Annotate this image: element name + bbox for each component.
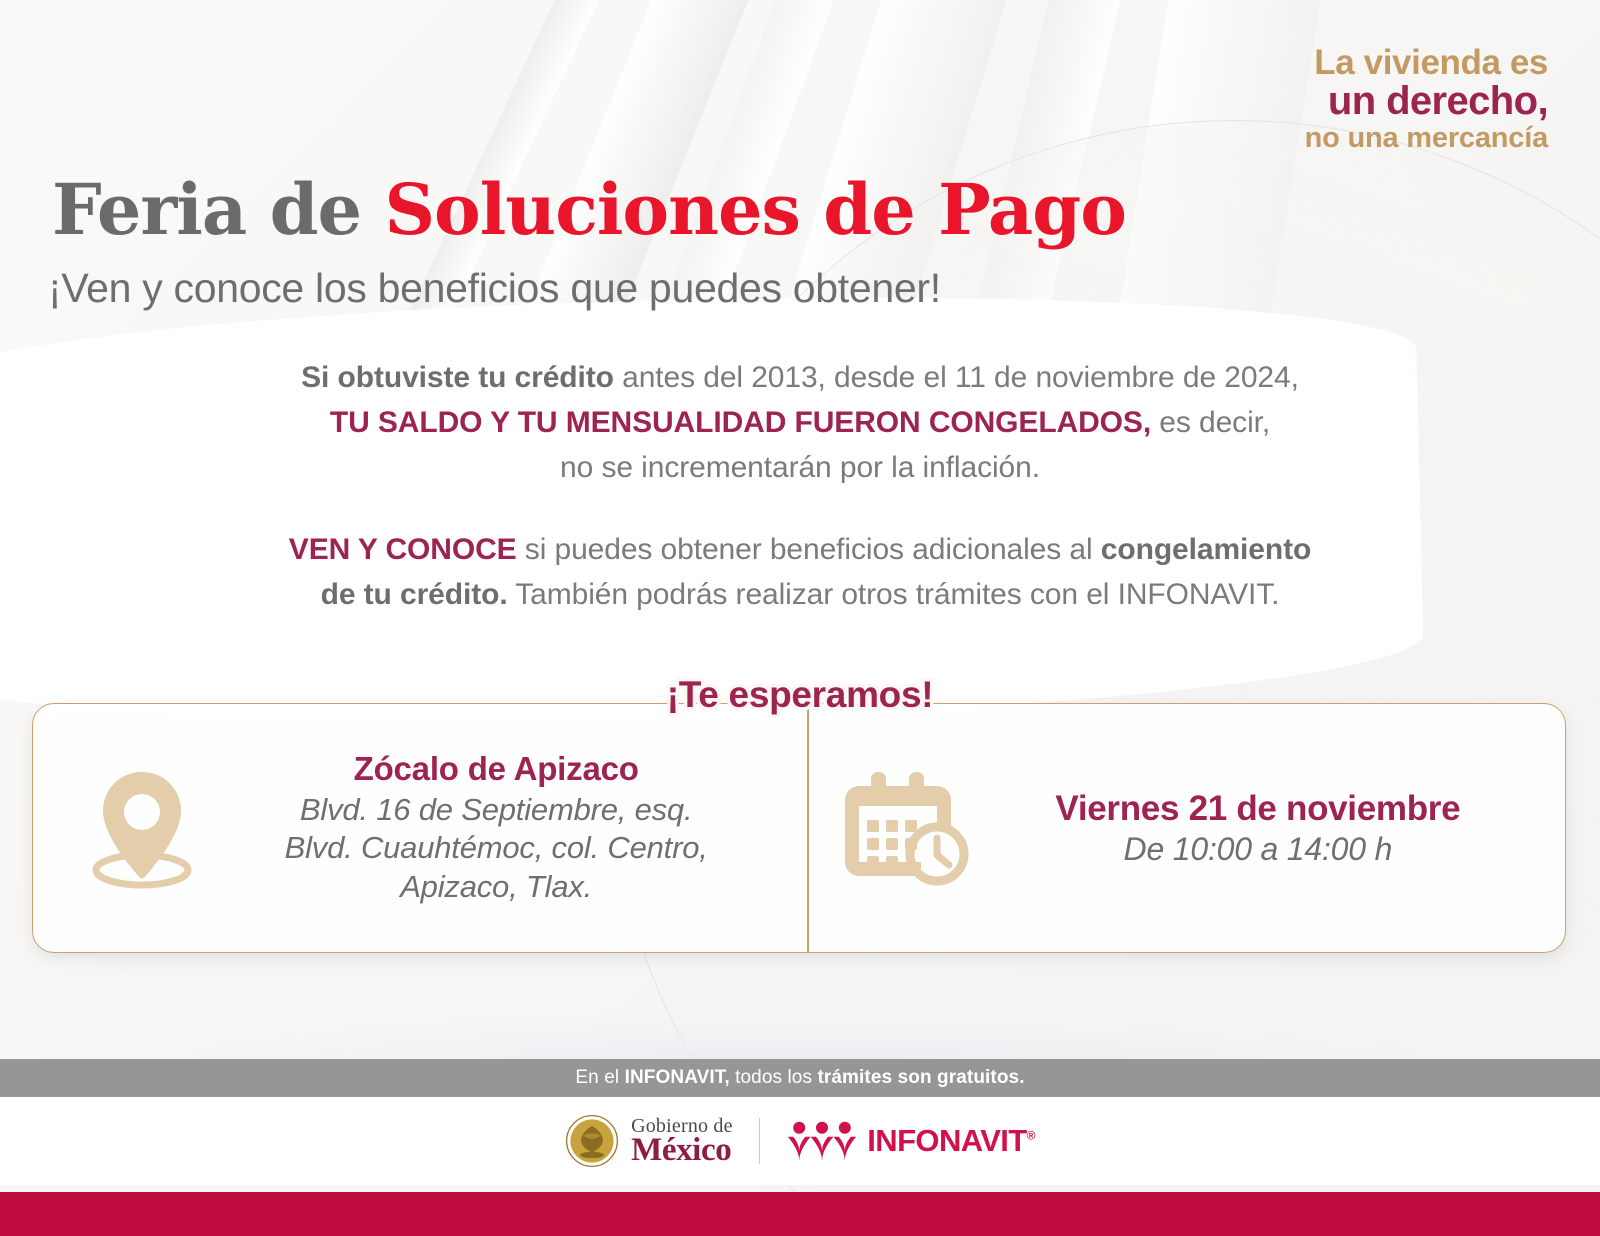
title-part-red: Soluciones de Pago (384, 168, 1125, 251)
venue-cell: Zócalo de Apizaco Blvd. 16 de Septiembre… (33, 704, 807, 952)
infonavit-people-icon (786, 1121, 858, 1161)
infonavit-wordmark: INFONAVIT® (867, 1123, 1035, 1159)
venue-address-line-2: Blvd. Cuauhtémoc, col. Centro, (231, 829, 761, 867)
paragraph1-text-b: es decir, (1151, 406, 1270, 439)
free-procedures-bar: En el INFONAVIT, todos los trámites son … (0, 1059, 1600, 1097)
bar-bold-b: trámites son gratuitos. (817, 1067, 1024, 1088)
infonavit-word-text: INFONAVIT (867, 1123, 1026, 1158)
registered-mark: ® (1027, 1129, 1035, 1143)
gobierno-line-2: México (631, 1134, 733, 1167)
free-procedures-text: En el INFONAVIT, todos los trámites son … (575, 1067, 1024, 1089)
tagline-line-1: La vivienda es (1305, 44, 1548, 81)
bottom-accent-strip (0, 1192, 1600, 1236)
tagline-block: La vivienda es un derecho, no una mercan… (1305, 44, 1548, 154)
logo-separator (759, 1118, 761, 1164)
bar-text-a: En el (575, 1067, 624, 1088)
background-white-band (0, 282, 1425, 739)
infonavit-logo: INFONAVIT® (786, 1121, 1035, 1161)
logo-row: Gobierno de México INFONAVIT® (0, 1097, 1600, 1185)
mexican-eagle-seal-icon (565, 1114, 619, 1168)
paragraph2-line2: de tu crédito. También podrás realizar o… (0, 572, 1600, 617)
event-details-box: Zócalo de Apizaco Blvd. 16 de Septiembre… (32, 703, 1566, 953)
venue-name: Zócalo de Apizaco (231, 750, 761, 788)
paragraph2-text-b: También podrás realizar otros trámites c… (508, 578, 1280, 611)
paragraph2-magenta: VEN Y CONOCE (289, 533, 517, 566)
page-subtitle: ¡Ven y conoce los beneficios que puedes … (48, 265, 941, 312)
paragraph1-bold-lead: Si obtuviste tu crédito (301, 361, 614, 394)
tagline-line-2: un derecho, (1305, 80, 1548, 122)
page-title: Feria de Soluciones de Pago (52, 168, 1126, 251)
paragraph2-text-a: si puedes obtener beneficios adicionales… (517, 533, 1101, 566)
paragraph2-bold-a: congelamiento (1101, 533, 1311, 566)
event-date: Viernes 21 de noviembre (1017, 789, 1499, 829)
gobierno-words: Gobierno de México (631, 1116, 733, 1167)
paragraph1-text-a: antes del 2013, desde el 11 de noviembre… (614, 361, 1299, 394)
paragraph-benefits-info: VEN Y CONOCE si puedes obtener beneficio… (0, 527, 1600, 617)
paragraph1-line3: no se incrementarán por la inflación. (0, 445, 1600, 490)
bar-text-b: todos los (730, 1067, 818, 1088)
poster-canvas: La vivienda es un derecho, no una mercan… (0, 0, 1600, 1236)
title-part-gray: Feria de (52, 168, 384, 251)
location-pin-icon (87, 764, 197, 892)
gobierno-de-mexico-logo: Gobierno de México (565, 1114, 733, 1168)
paragraph-credit-info: Si obtuviste tu crédito antes del 2013, … (0, 355, 1600, 490)
paragraph2-line1: VEN Y CONOCE si puedes obtener beneficio… (0, 527, 1600, 572)
bar-bold-a: INFONAVIT, (625, 1067, 730, 1088)
venue-address-line-1: Blvd. 16 de Septiembre, esq. (231, 791, 761, 829)
schedule-cell: Viernes 21 de noviembre De 10:00 a 14:00… (809, 704, 1565, 952)
venue-text-block: Zócalo de Apizaco Blvd. 16 de Septiembre… (231, 750, 781, 906)
paragraph1-line1: Si obtuviste tu crédito antes del 2013, … (0, 355, 1600, 400)
tagline-line-3: no una mercancía (1305, 123, 1548, 154)
paragraph2-bold-b: de tu crédito. (321, 578, 508, 611)
paragraph1-magenta: TU SALDO Y TU MENSUALIDAD FUERON CONGELA… (330, 406, 1151, 439)
venue-address-line-3: Apizaco, Tlax. (231, 868, 761, 906)
event-time: De 10:00 a 14:00 h (1017, 831, 1499, 868)
paragraph1-line2: TU SALDO Y TU MENSUALIDAD FUERON CONGELA… (0, 400, 1600, 445)
schedule-text-block: Viernes 21 de noviembre De 10:00 a 14:00… (1017, 789, 1539, 868)
calendar-clock-icon (845, 768, 969, 888)
